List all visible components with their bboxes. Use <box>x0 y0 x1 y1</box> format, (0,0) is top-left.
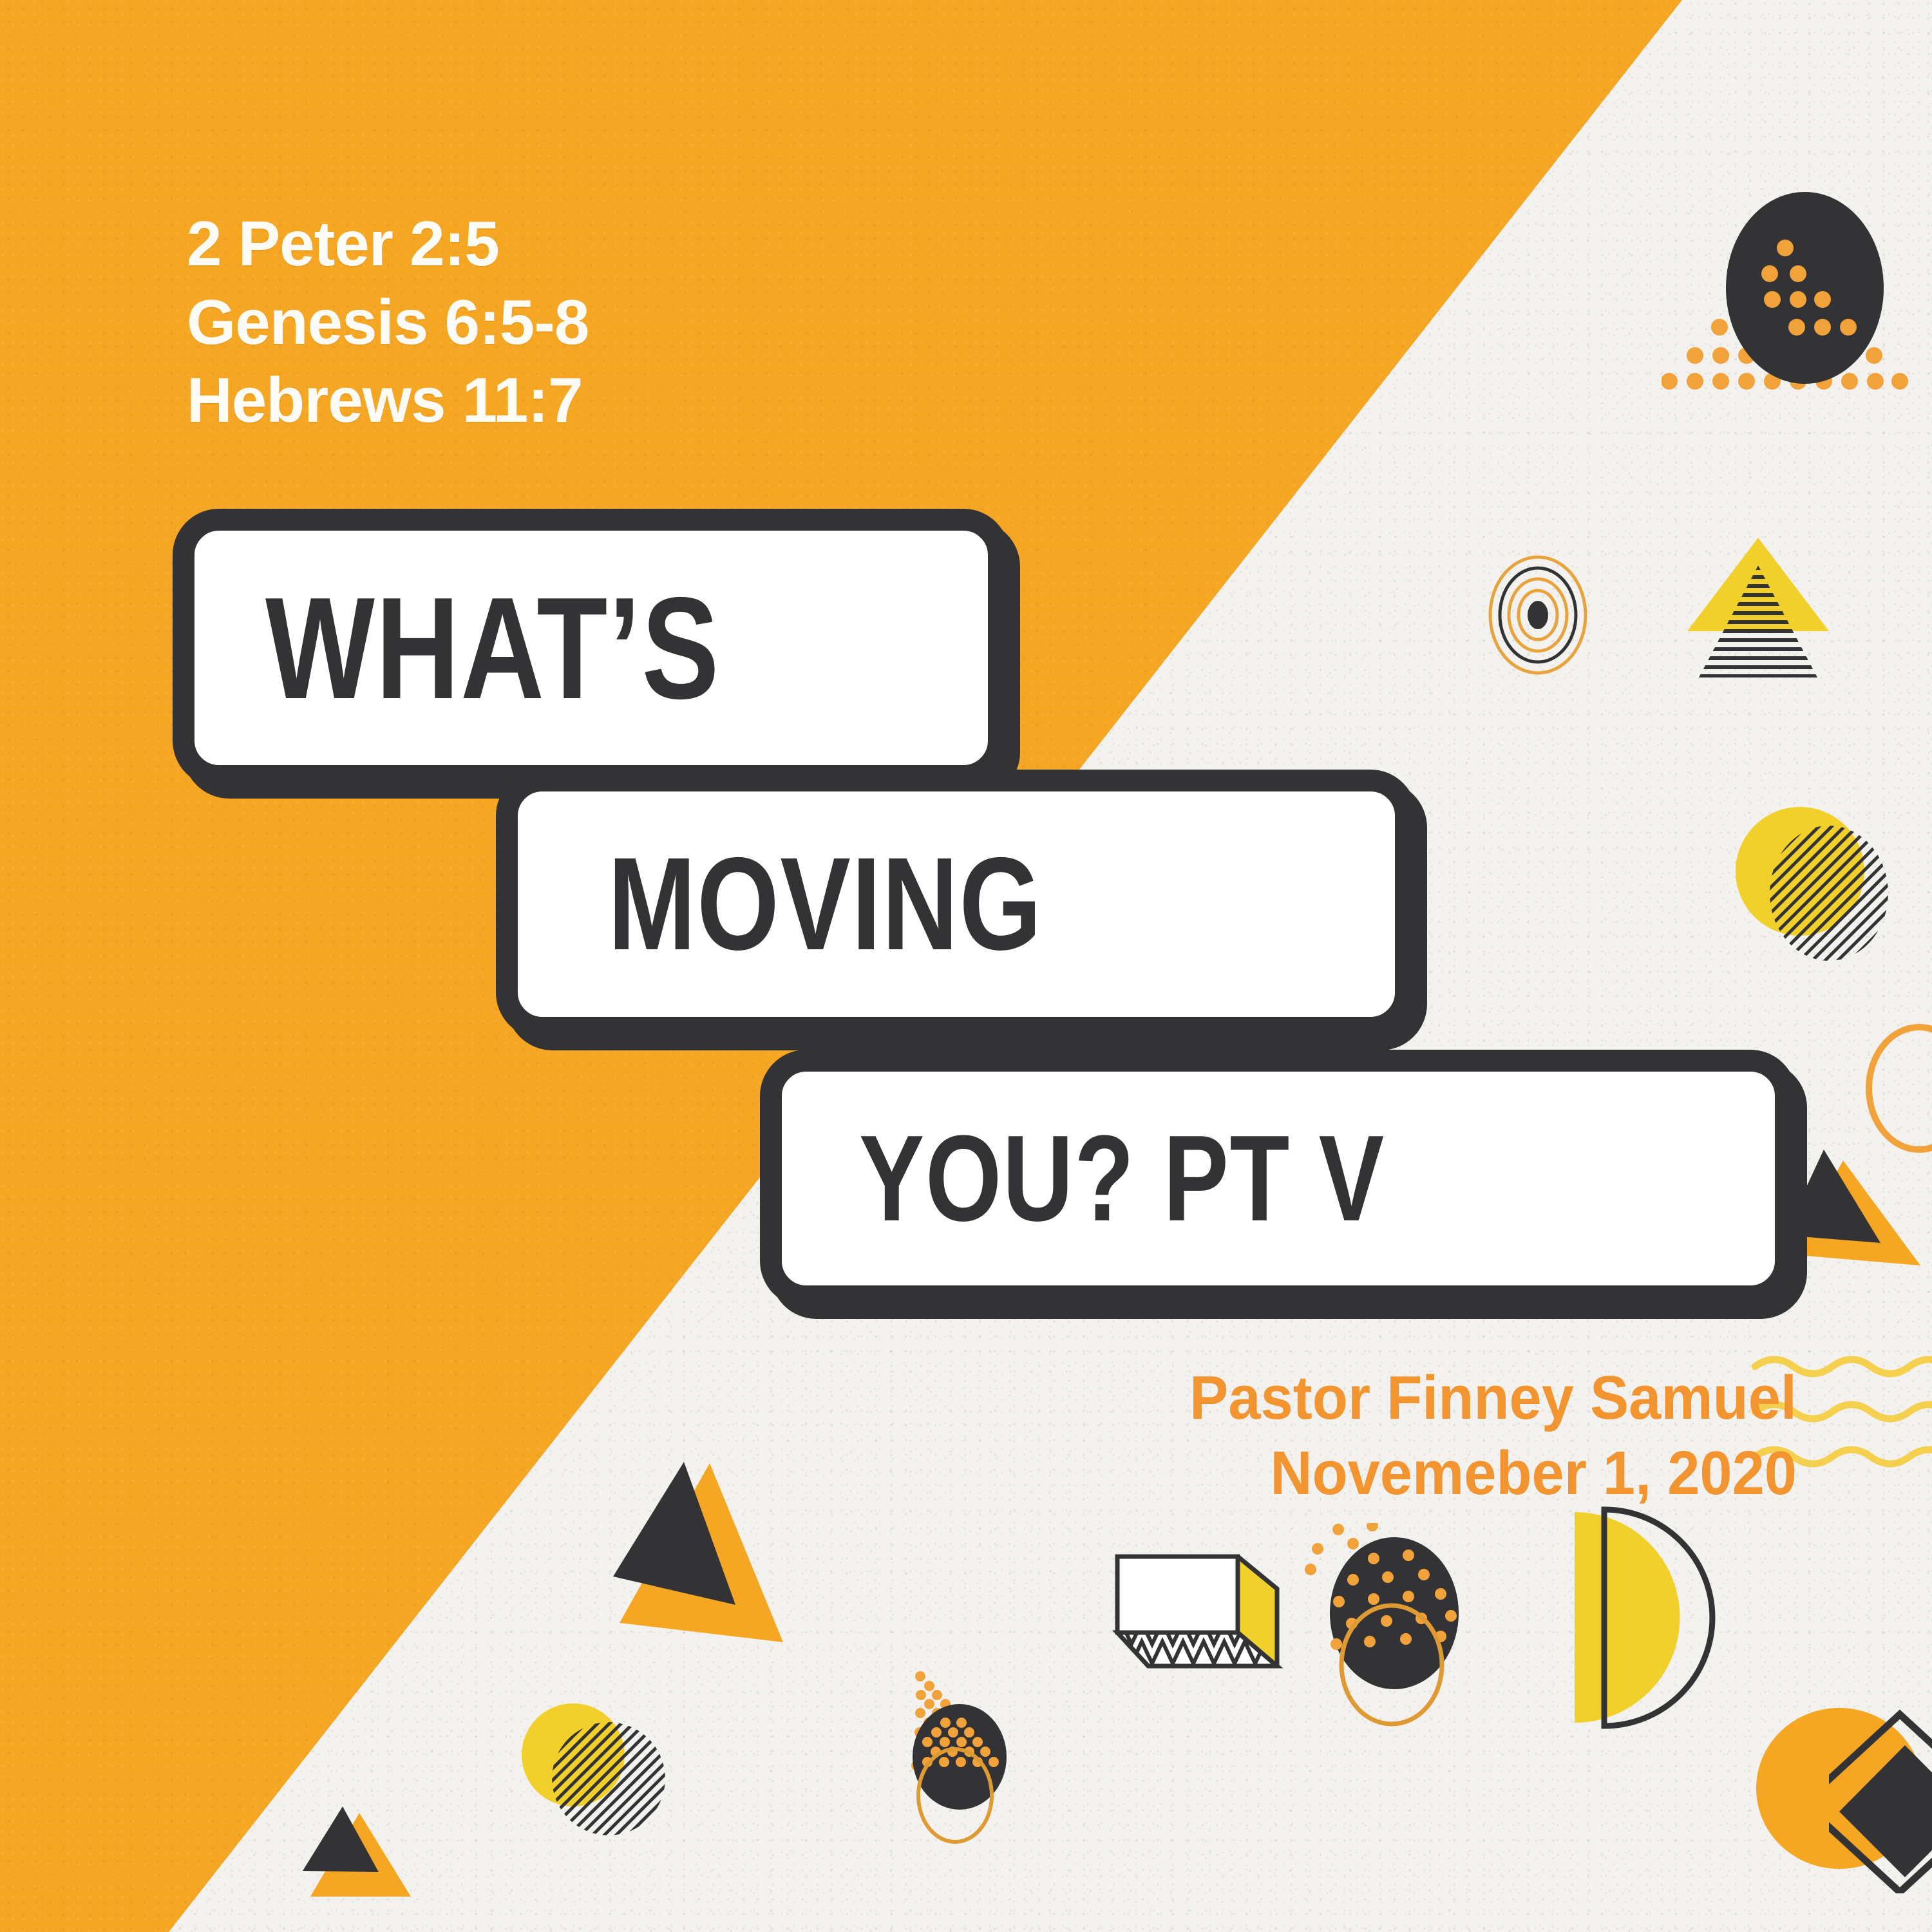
title-plate-you-pt-v: YOU? PT V <box>760 1050 1797 1307</box>
striped-circle <box>1768 824 1897 963</box>
scripture-line-2: Genesis 6:5-8 <box>187 283 589 362</box>
speaker-name: Pastor Finney Samuel <box>1189 1360 1797 1435</box>
speaker-date: Novemeber 1, 2020 <box>1189 1435 1797 1511</box>
yellow-half-circle <box>1562 1501 1729 1732</box>
poster-canvas: 2 Peter 2:5 Genesis 6:5-8 Hebrews 11:7 W… <box>0 0 1932 1932</box>
striped-triangle <box>1681 535 1835 708</box>
concentric-rings-icon <box>1486 554 1589 676</box>
orange-ring-right-edge <box>1845 1021 1932 1156</box>
small-triangle-pair-bottom-left <box>303 1794 431 1916</box>
scripture-line-3: Hebrews 11:7 <box>187 361 589 440</box>
speaker-block: Pastor Finney Samuel Novemeber 1, 2020 <box>1151 1360 1797 1511</box>
title-plate-moving-label: MOVING <box>608 828 1043 980</box>
dark-orange-triangle-pair-right <box>1784 1140 1932 1275</box>
dotted-dark-circle-2 <box>892 1655 1085 1880</box>
title-plate-whats-label: WHAT’S <box>265 565 720 732</box>
striped-circle-bottom <box>551 1721 673 1843</box>
scripture-references: 2 Peter 2:5 Genesis 6:5-8 Hebrews 11:7 <box>187 205 589 440</box>
dark-orange-triangle-pair-left <box>592 1436 805 1668</box>
dark-diamond <box>1829 1739 1932 1900</box>
dotted-dark-circle <box>1298 1523 1510 1736</box>
title-plate-moving: MOVING <box>496 770 1417 1039</box>
isometric-cube <box>1104 1549 1298 1723</box>
orange-dots-over-circle <box>1662 213 1932 470</box>
scripture-line-1: 2 Peter 2:5 <box>187 205 589 283</box>
title-plate-whats: WHAT’S <box>173 509 1010 787</box>
title-plate-you-pt-v-label: YOU? PT V <box>859 1108 1385 1249</box>
